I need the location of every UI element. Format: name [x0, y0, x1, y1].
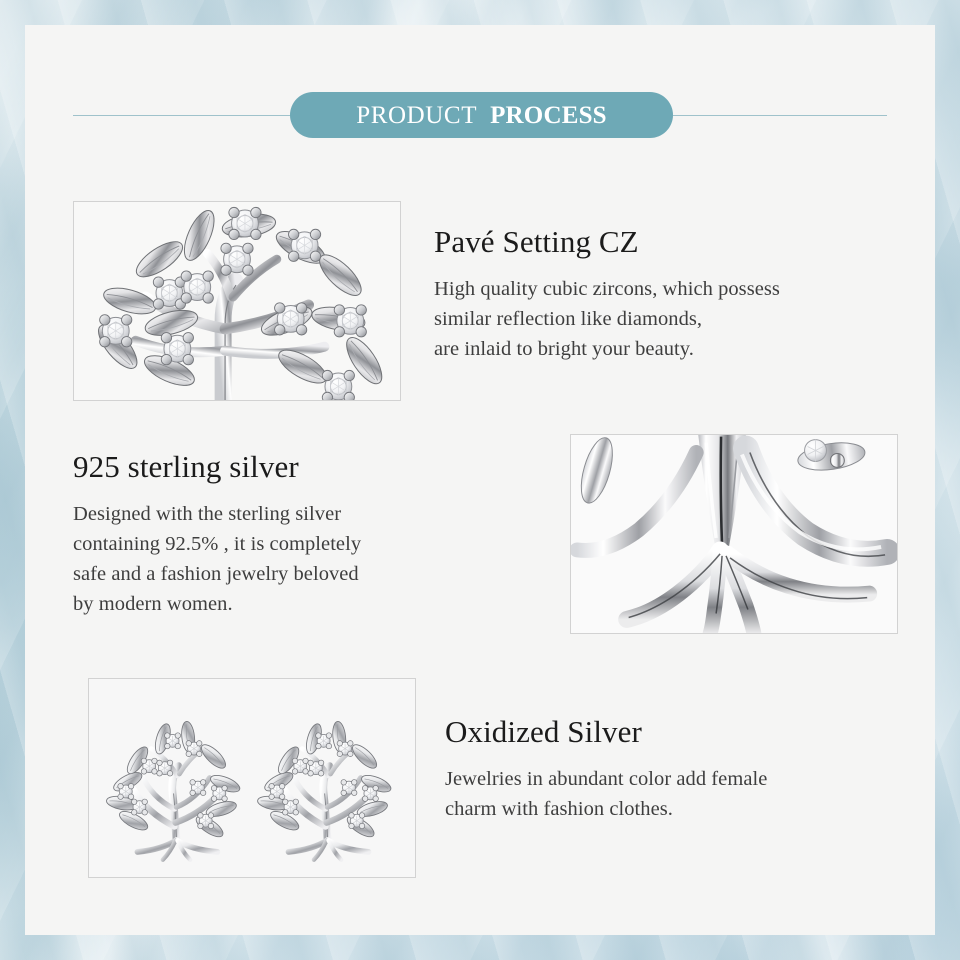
tree-of-life-charm-macro-illustration	[74, 202, 400, 400]
header-badge: PRODUCT PROCESS	[290, 92, 673, 138]
heading-pave-setting-cz: Pavé Setting CZ	[434, 225, 934, 260]
body-line: by modern women.	[73, 589, 543, 619]
header-title-bold: PROCESS	[490, 103, 607, 128]
text-block-oxidized-silver: Oxidized Silver Jewelries in abundant co…	[445, 715, 925, 824]
body-line: safe and a fashion jewelry beloved	[73, 559, 543, 589]
heading-925-sterling-silver: 925 sterling silver	[73, 450, 543, 485]
body-line: High quality cubic zircons, which posses…	[434, 274, 934, 304]
image-frame-oxidized-silver	[88, 678, 416, 878]
header-rule-left	[73, 115, 291, 116]
content-card: PRODUCT PROCESS	[25, 25, 935, 935]
text-block-925-sterling-silver: 925 sterling silver Designed with the st…	[73, 450, 543, 619]
body-line: Jewelries in abundant color add female	[445, 764, 925, 794]
body-line: charm with fashion clothes.	[445, 794, 925, 824]
heading-oxidized-silver: Oxidized Silver	[445, 715, 925, 750]
image-frame-925-sterling-silver	[570, 434, 898, 634]
header-title-regular: PRODUCT	[356, 103, 477, 128]
body-line: are inlaid to bright your beauty.	[434, 334, 934, 364]
body-line: similar reflection like diamonds,	[434, 304, 934, 334]
tree-of-life-stud-earrings-illustration	[89, 679, 415, 877]
body-line: containing 92.5% , it is completely	[73, 529, 543, 559]
text-block-pave-setting-cz: Pavé Setting CZ High quality cubic zirco…	[434, 225, 934, 364]
product-process-infographic: PRODUCT PROCESS	[0, 0, 960, 960]
body-line: Designed with the sterling silver	[73, 499, 543, 529]
image-frame-pave-setting-cz	[73, 201, 401, 401]
section-header: PRODUCT PROCESS	[25, 81, 935, 151]
polished-silver-trunk-macro-illustration	[571, 435, 897, 633]
header-rule-right	[673, 115, 887, 116]
